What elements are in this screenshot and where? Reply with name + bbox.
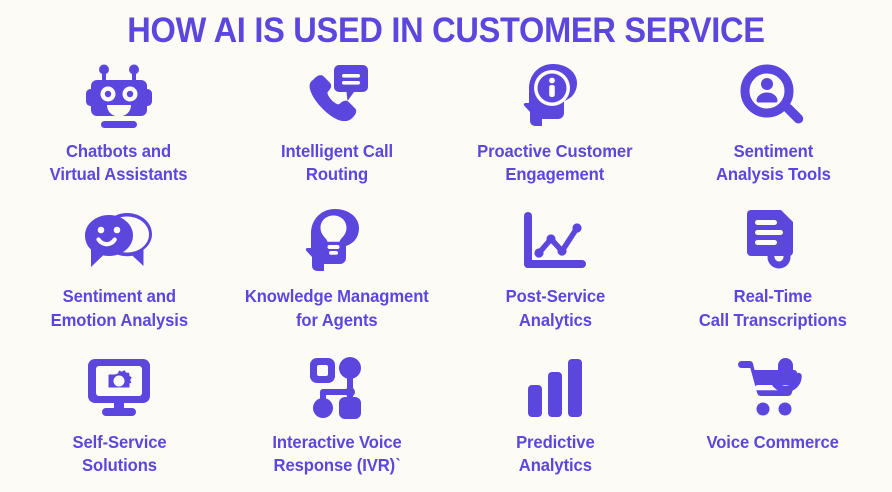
grid-item-label: Voice Commerce	[707, 431, 839, 454]
grid-item-label: Predictive Analytics	[516, 431, 595, 478]
infographic-root: HOW AI IS USED IN CUSTOMER SERVICE	[0, 0, 892, 492]
grid-item-self-service[interactable]: Self-Service Solutions	[10, 345, 228, 490]
bar-chart-icon	[525, 351, 585, 425]
grid-item-label: Sentiment and Emotion Analysis	[50, 285, 187, 332]
grid-item-label: Chatbots and Virtual Assistants	[50, 140, 188, 187]
grid-item-proactive-engagement[interactable]: Proactive Customer Engagement	[446, 54, 664, 199]
line-chart-icon	[522, 205, 588, 279]
grid-item-call-transcriptions[interactable]: Real-Time Call Transcriptions	[664, 199, 882, 344]
document-transcript-icon	[742, 205, 804, 279]
page-title: HOW AI IS USED IN CUSTOMER SERVICE	[31, 0, 861, 54]
grid-item-predictive-analytics[interactable]: Predictive Analytics	[446, 345, 664, 490]
grid-item-chatbots[interactable]: Chatbots and Virtual Assistants	[10, 54, 228, 199]
head-lightbulb-icon	[305, 205, 369, 279]
grid-item-label: Real-Time Call Transcriptions	[699, 285, 847, 332]
grid-item-label: Interactive Voice Response (IVR)ˋ	[272, 431, 401, 478]
cart-microphone-icon	[736, 351, 810, 425]
grid-item-sentiment-analysis-tools[interactable]: Sentiment Analysis Tools	[664, 54, 882, 199]
grid-item-intelligent-call-routing[interactable]: Intelligent Call Routing	[228, 54, 446, 199]
grid-item-sentiment-emotion[interactable]: Sentiment and Emotion Analysis	[10, 199, 228, 344]
grid-item-ivr[interactable]: Interactive Voice Response (IVR)ˋ	[228, 345, 446, 490]
grid-item-label: Self-Service Solutions	[72, 431, 166, 478]
grid-item-label: Knowledge Managment for Agents	[245, 285, 429, 332]
head-info-icon	[523, 60, 587, 134]
monitor-gear-icon	[86, 351, 152, 425]
grid-item-knowledge-management[interactable]: Knowledge Managment for Agents	[228, 199, 446, 344]
magnifier-person-icon	[740, 60, 806, 134]
grid-item-post-service-analytics[interactable]: Post-Service Analytics	[446, 199, 664, 344]
grid-item-label: Post-Service Analytics	[505, 285, 605, 332]
flowchart-nodes-icon	[306, 351, 368, 425]
robot-head-icon	[83, 60, 155, 134]
icon-grid: Chatbots and Virtual Assistants Intellig…	[0, 54, 892, 492]
grid-item-label: Proactive Customer Engagement	[477, 140, 632, 187]
grid-item-voice-commerce[interactable]: Voice Commerce	[664, 345, 882, 490]
grid-item-label: Sentiment Analysis Tools	[716, 140, 831, 187]
grid-item-label: Intelligent Call Routing	[281, 140, 393, 187]
phone-chat-bubble-icon	[303, 60, 371, 134]
smiley-speech-bubbles-icon	[83, 205, 155, 279]
